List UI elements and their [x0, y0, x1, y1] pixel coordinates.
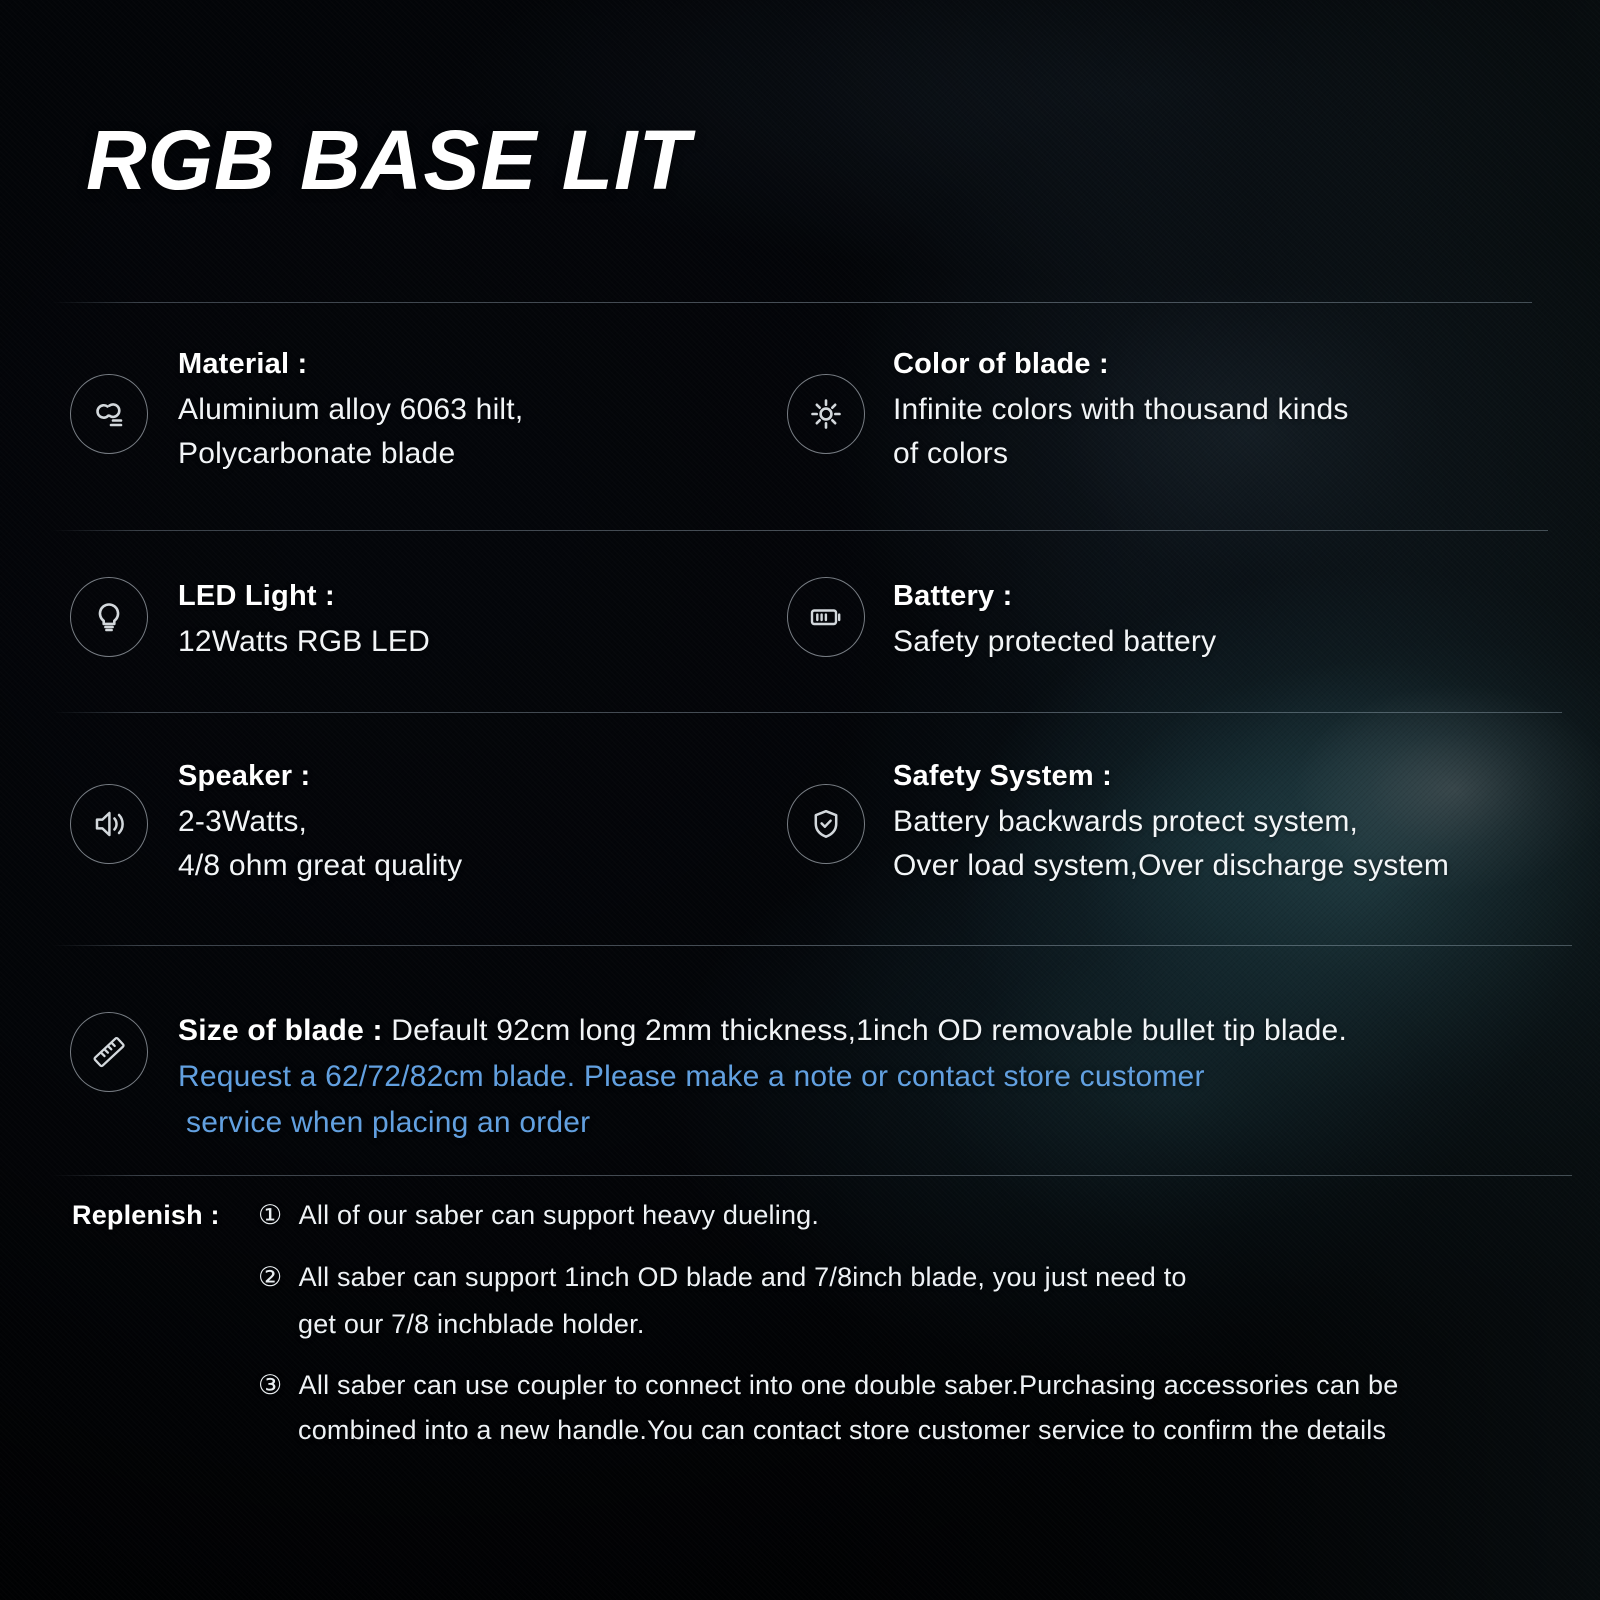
- spec-line: Battery backwards protect system,: [893, 805, 1449, 839]
- spec-line: 12Watts RGB LED: [178, 625, 430, 659]
- size-of-blade-value: Default 92cm long 2mm thickness,1inch OD…: [391, 1014, 1347, 1047]
- spec-line: Infinite colors with thousand kinds: [893, 393, 1349, 427]
- replenish-label: Replenish :: [72, 1200, 220, 1231]
- spec-line: 2-3Watts,: [178, 805, 462, 839]
- infographic-page: RGB BASE LIT Material : Aluminium alloy …: [0, 0, 1600, 1600]
- size-of-blade-note-line-2: service when placing an order: [178, 1106, 1347, 1140]
- divider-1: [52, 302, 1532, 303]
- battery-icon: [787, 577, 865, 657]
- size-of-blade-main-line: Size of blade : Default 92cm long 2mm th…: [178, 1014, 1347, 1048]
- shield-check-icon: [787, 784, 865, 864]
- spec-line: Aluminium alloy 6063 hilt,: [178, 393, 523, 427]
- spec-line: of colors: [893, 437, 1349, 471]
- size-of-blade-note-line-1: Request a 62/72/82cm blade. Please make …: [178, 1060, 1347, 1094]
- spec-speaker: Speaker : 2-3Watts, 4/8 ohm great qualit…: [178, 760, 462, 883]
- spec-color-of-blade: Color of blade : Infinite colors with th…: [893, 348, 1349, 471]
- list-item-continuation: get our 7/8 inchblade holder.: [298, 1309, 645, 1340]
- divider-5: [52, 1175, 1572, 1176]
- list-item-text: All saber can use coupler to connect int…: [299, 1370, 1399, 1400]
- spec-led-light: LED Light : 12Watts RGB LED: [178, 580, 430, 659]
- list-item-number: ②: [258, 1262, 282, 1293]
- list-item-continuation: combined into a new handle.You can conta…: [298, 1415, 1386, 1446]
- lightbulb-icon: [70, 577, 148, 657]
- spec-line: Over load system,Over discharge system: [893, 849, 1449, 883]
- list-item-number: ①: [258, 1200, 282, 1231]
- spec-line: Polycarbonate blade: [178, 437, 523, 471]
- list-item: ① All of our saber can support heavy due…: [258, 1200, 819, 1231]
- brightness-sun-icon: [787, 374, 865, 454]
- chain-link-material-icon: [70, 374, 148, 454]
- spec-title: Speaker :: [178, 760, 462, 793]
- divider-4: [52, 945, 1572, 946]
- size-of-blade-label: Size of blade :: [178, 1014, 383, 1047]
- spec-battery: Battery : Safety protected battery: [893, 580, 1216, 659]
- list-item-text: All of our saber can support heavy dueli…: [299, 1200, 819, 1230]
- list-item: ③ All saber can use coupler to connect i…: [258, 1370, 1398, 1401]
- spec-title: Battery :: [893, 580, 1216, 613]
- spec-line: Safety protected battery: [893, 625, 1216, 659]
- spec-line: 4/8 ohm great quality: [178, 849, 462, 883]
- spec-title: Material :: [178, 348, 523, 381]
- ruler-icon: [70, 1012, 148, 1092]
- spec-safety-system: Safety System : Battery backwards protec…: [893, 760, 1449, 883]
- size-of-blade-block: Size of blade : Default 92cm long 2mm th…: [178, 1014, 1347, 1140]
- page-title: RGB BASE LIT: [86, 112, 691, 209]
- divider-3: [52, 712, 1562, 713]
- list-item-text: All saber can support 1inch OD blade and…: [299, 1262, 1187, 1292]
- spec-title: LED Light :: [178, 580, 430, 613]
- speaker-volume-icon: [70, 784, 148, 864]
- spec-title: Color of blade :: [893, 348, 1349, 381]
- list-item-number: ③: [258, 1370, 282, 1401]
- divider-2: [52, 530, 1548, 531]
- spec-material: Material : Aluminium alloy 6063 hilt, Po…: [178, 348, 523, 471]
- spec-title: Safety System :: [893, 760, 1449, 793]
- list-item: ② All saber can support 1inch OD blade a…: [258, 1262, 1187, 1293]
